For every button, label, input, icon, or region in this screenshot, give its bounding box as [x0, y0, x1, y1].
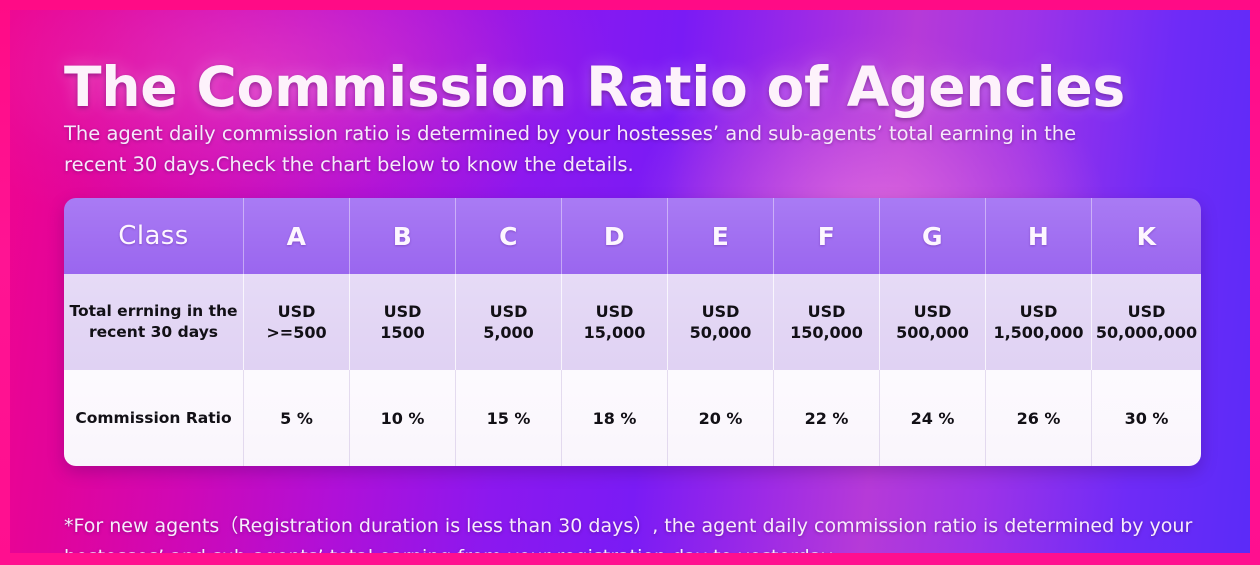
- ratio-cell-e: 20 %: [668, 370, 774, 466]
- ratio-cell-k: 30 %: [1092, 370, 1201, 466]
- header-class-c: C: [456, 198, 562, 274]
- earning-cell-f: USD 150,000: [774, 274, 880, 370]
- ratio-cell-h: 26 %: [986, 370, 1092, 466]
- ratio-cell-g: 24 %: [880, 370, 986, 466]
- ratio-cell-b: 10 %: [350, 370, 456, 466]
- commission-ratio-poster: The Commission Ratio of Agencies The age…: [0, 0, 1260, 565]
- header-class-f: F: [774, 198, 880, 274]
- page-subtitle: The agent daily commission ratio is dete…: [64, 118, 1124, 180]
- earning-currency-f: USD: [776, 301, 877, 322]
- earning-currency-a: USD: [246, 301, 347, 322]
- page-title: The Commission Ratio of Agencies: [64, 55, 1125, 119]
- earning-amount-a: >=500: [246, 322, 347, 343]
- table-row-total-earning: Total errning in the recent 30 days USD …: [64, 274, 1201, 370]
- earning-cell-g: USD 500,000: [880, 274, 986, 370]
- earning-amount-e: 50,000: [670, 322, 771, 343]
- earning-cell-c: USD 5,000: [456, 274, 562, 370]
- poster-background: The Commission Ratio of Agencies The age…: [10, 10, 1250, 553]
- earning-amount-g: 500,000: [882, 322, 983, 343]
- earning-currency-k: USD: [1094, 301, 1199, 322]
- earning-currency-d: USD: [564, 301, 665, 322]
- ratio-cell-a: 5 %: [244, 370, 350, 466]
- row-label-commission-ratio: Commission Ratio: [64, 370, 244, 466]
- earning-amount-f: 150,000: [776, 322, 877, 343]
- header-class-b: B: [350, 198, 456, 274]
- header-class-k: K: [1092, 198, 1201, 274]
- earning-currency-h: USD: [988, 301, 1089, 322]
- earning-cell-b: USD 1500: [350, 274, 456, 370]
- earning-amount-d: 15,000: [564, 322, 665, 343]
- header-class-g: G: [880, 198, 986, 274]
- earning-currency-e: USD: [670, 301, 771, 322]
- earning-cell-k: USD 50,000,000: [1092, 274, 1201, 370]
- header-class-h: H: [986, 198, 1092, 274]
- ratio-cell-d: 18 %: [562, 370, 668, 466]
- header-class-a: A: [244, 198, 350, 274]
- earning-currency-g: USD: [882, 301, 983, 322]
- row-label-total-earning-line2: recent 30 days: [66, 322, 241, 343]
- ratio-cell-c: 15 %: [456, 370, 562, 466]
- earning-currency-c: USD: [458, 301, 559, 322]
- ratio-cell-f: 22 %: [774, 370, 880, 466]
- commission-table: Class A B C D E F G H K T: [64, 198, 1201, 466]
- header-class-e: E: [668, 198, 774, 274]
- footnote-text: *For new agents（Registration duration is…: [64, 511, 1209, 553]
- earning-cell-d: USD 15,000: [562, 274, 668, 370]
- table-header-row: Class A B C D E F G H K: [64, 198, 1201, 274]
- earning-cell-e: USD 50,000: [668, 274, 774, 370]
- earning-amount-c: 5,000: [458, 322, 559, 343]
- table-row-commission-ratio: Commission Ratio 5 % 10 % 15 % 18 % 20 %…: [64, 370, 1201, 466]
- header-class-label: Class: [64, 198, 244, 274]
- earning-currency-b: USD: [352, 301, 453, 322]
- row-label-total-earning-line1: Total errning in the: [66, 301, 241, 322]
- header-class-d: D: [562, 198, 668, 274]
- row-label-total-earning: Total errning in the recent 30 days: [64, 274, 244, 370]
- earning-cell-a: USD >=500: [244, 274, 350, 370]
- earning-cell-h: USD 1,500,000: [986, 274, 1092, 370]
- earning-amount-b: 1500: [352, 322, 453, 343]
- earning-amount-k: 50,000,000: [1094, 322, 1199, 343]
- earning-amount-h: 1,500,000: [988, 322, 1089, 343]
- commission-table-container: Class A B C D E F G H K T: [64, 198, 1201, 466]
